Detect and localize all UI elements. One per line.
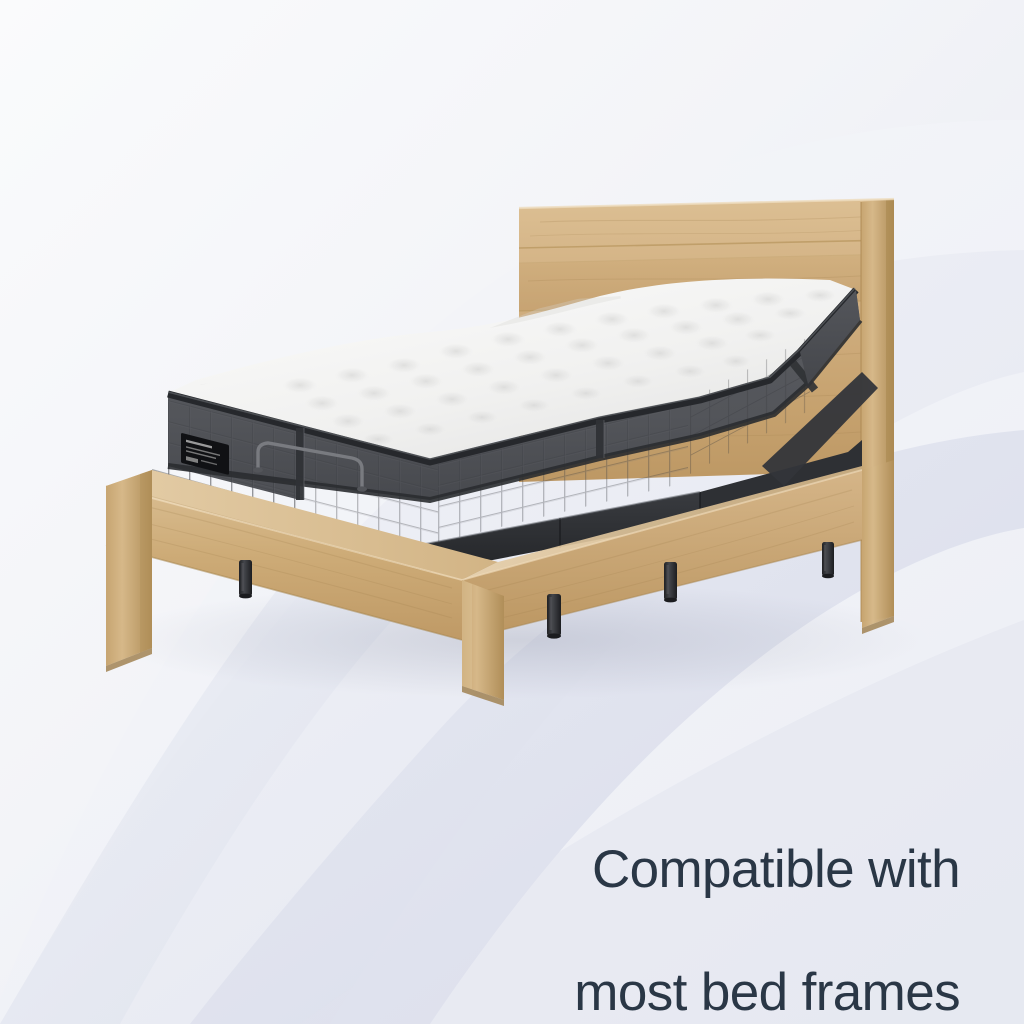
caption-text: Compatible with most bed frames — [0, 778, 960, 1024]
caption-line-2: most bed frames — [0, 962, 960, 1023]
product-scene: Compatible with most bed frames — [0, 0, 1024, 1024]
caption-line-1: Compatible with — [0, 839, 960, 900]
